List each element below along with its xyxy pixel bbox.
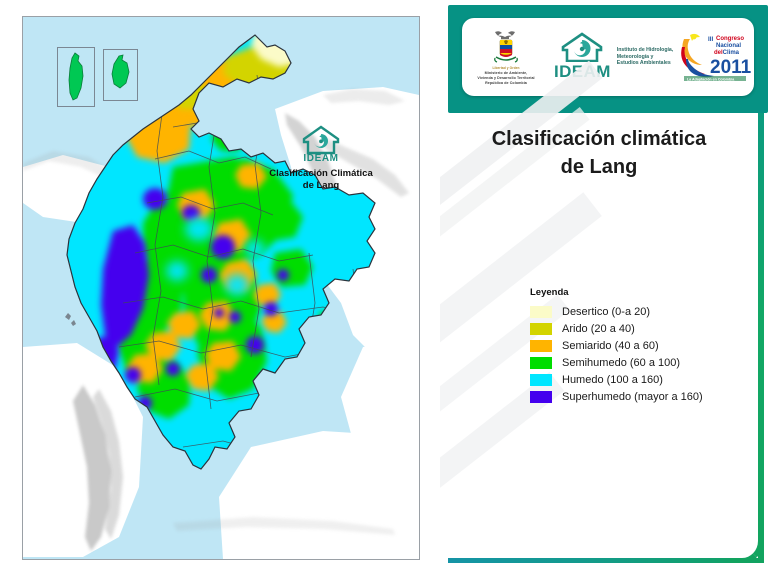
map-figure: IDEAM Clasificación Climática de Lang [0, 0, 440, 576]
slide-title: Clasificación climática de Lang [448, 125, 750, 181]
map-frame: IDEAM Clasificación Climática de Lang [22, 16, 420, 560]
min-line1: Libertad y Orden [492, 66, 519, 70]
congreso-nacional-clima-logo: III Congreso Nacional delClima 2011 La A… [674, 29, 754, 85]
congreso-logo-icon: III Congreso Nacional delClima 2011 La A… [676, 29, 752, 85]
legend-item-desertico: Desertico (0-a 20) [530, 304, 703, 320]
legend-item-arido: Arido (20 a 40) [530, 321, 703, 337]
legend-swatch-semihumedo [530, 357, 552, 369]
legend-label-arido: Arido (20 a 40) [562, 323, 635, 335]
legend-label-desertico: Desertico (0-a 20) [562, 306, 650, 318]
legend-swatch-semiarido [530, 340, 552, 352]
min-line4: República de Colombia [485, 81, 527, 85]
legend-title: Leyenda [530, 287, 703, 298]
legend-item-humedo: Humedo (100 a 160) [530, 372, 703, 388]
legend-swatch-humedo [530, 374, 552, 386]
legend-swatch-superhumedo [530, 391, 552, 403]
ideam-sub3: Estudios Ambientales [617, 60, 671, 66]
map-caption-line2: de Lang [303, 180, 339, 191]
legend-swatch-arido [530, 323, 552, 335]
ministerio-ambiente-logo: Libertad y Orden Ministerio de Ambiente,… [462, 29, 550, 86]
svg-text:Nacional: Nacional [716, 43, 741, 49]
legend-item-semihumedo: Semihumedo (60 a 100) [530, 355, 703, 371]
svg-text:III: III [708, 36, 713, 43]
min-line2: Ministerio de Ambiente, [485, 71, 528, 75]
ideam-sub2: Meteorología y [617, 54, 654, 60]
ideam-brand: IDEAM [261, 153, 381, 164]
card-edge-bottom [448, 558, 764, 563]
slide-screenshot: IDEAM Clasificación Climática de Lang [0, 0, 772, 576]
ideam-house-icon [301, 125, 341, 155]
ideam-sub1: Instituto de Hidrología, [617, 47, 673, 53]
legend-item-semiarido: Semiarido (40 a 60) [530, 338, 703, 354]
logo-bar: Libertad y Orden Ministerio de Ambiente,… [462, 18, 754, 96]
card-edge-right [758, 113, 764, 563]
presentation-slide: Libertad y Orden Ministerio de Ambiente,… [440, 0, 772, 576]
slide-title-line2: de Lang [448, 153, 750, 181]
legend-label-semihumedo: Semihumedo (60 a 100) [562, 357, 680, 369]
map-caption-line1: Clasificación Climática [269, 168, 372, 179]
legend-swatch-desertico [530, 306, 552, 318]
svg-text:Congreso: Congreso [716, 36, 744, 42]
min-line3: Vivienda y Desarrollo Territorial [477, 76, 534, 80]
legend-label-superhumedo: Superhumedo (mayor a 160) [562, 391, 703, 403]
slide-content-card: Clasificación climática de Lang Leyenda … [448, 113, 764, 563]
ideam-house-icon [560, 32, 604, 62]
slide-title-line1: Clasificación climática [448, 125, 750, 153]
legend-item-superhumedo: Superhumedo (mayor a 160) [530, 389, 703, 405]
svg-text:La Adaptación en Colombia: La Adaptación en Colombia [687, 77, 735, 81]
inset-san-andres [57, 47, 95, 107]
ideam-logo: IDEAM Instituto de Hidrología, Meteorolo… [550, 32, 674, 82]
inset-providencia [103, 49, 138, 101]
svg-text:2011: 2011 [710, 57, 752, 78]
colombia-coat-of-arms-icon [491, 29, 521, 65]
legend: Leyenda Desertico (0-a 20) Arido (20 a 4… [530, 287, 703, 406]
map-ideam-watermark: IDEAM Clasificación Climática de Lang [261, 125, 381, 192]
svg-text:delClima: delClima [714, 50, 740, 56]
legend-label-semiarido: Semiarido (40 a 60) [562, 340, 659, 352]
legend-label-humedo: Humedo (100 a 160) [562, 374, 663, 386]
